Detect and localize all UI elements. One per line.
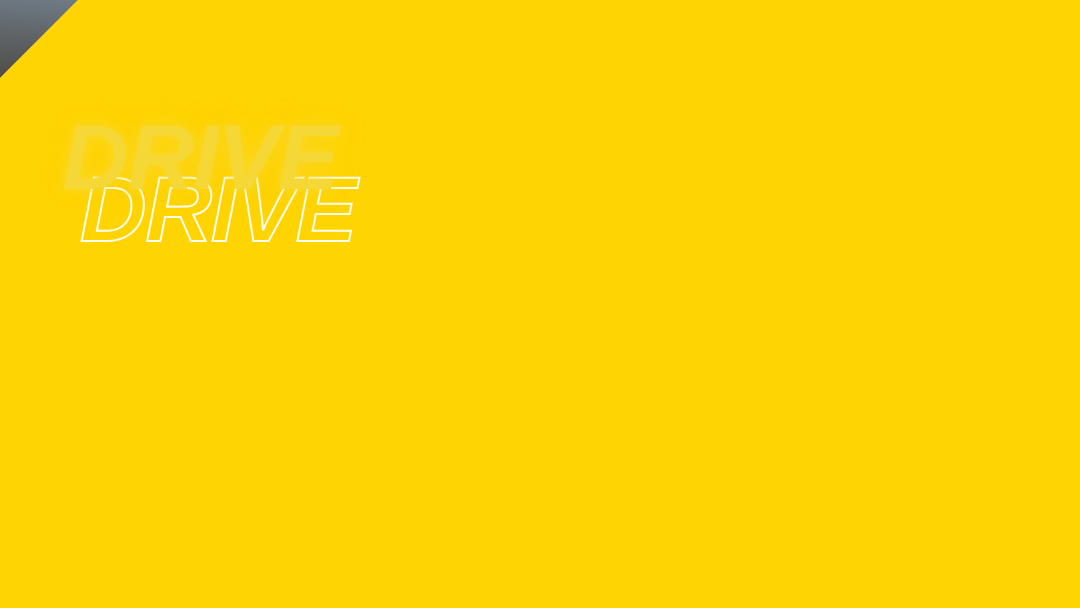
- car-grille-insert: [745, 418, 780, 437]
- driver-arm: [437, 335, 481, 349]
- car-photo-panel: [425, 49, 1003, 557]
- headline-group: DRIVE DRIVE: [62, 112, 422, 252]
- kicker-text: EXPERIENCE THE FUTURE: [66, 396, 414, 427]
- car-illustration: [427, 287, 983, 555]
- lower-headline-line-1: CUTTING-EDGE: [64, 434, 416, 489]
- car-photo-image: [427, 51, 1001, 555]
- lower-headline-line-2: CARS: [277, 486, 408, 541]
- car-headlight-left: [695, 409, 737, 451]
- poster-canvas: DRIVE DRIVE THE DREAM EXPERIENCE THE FUT…: [0, 0, 1080, 608]
- car-grille-insert: [857, 411, 882, 428]
- car-side-mirror: [506, 346, 533, 362]
- headline-text: DRIVE: [62, 112, 338, 204]
- car-license-plate: [835, 483, 891, 513]
- car-wheel-rim: [575, 457, 619, 501]
- subheadline-text: THE DREAM: [68, 258, 304, 302]
- car-headlight-right: [889, 397, 931, 439]
- hazard-stripes-bottom: [700, 536, 970, 562]
- photo-distant-umbrella: [880, 197, 914, 209]
